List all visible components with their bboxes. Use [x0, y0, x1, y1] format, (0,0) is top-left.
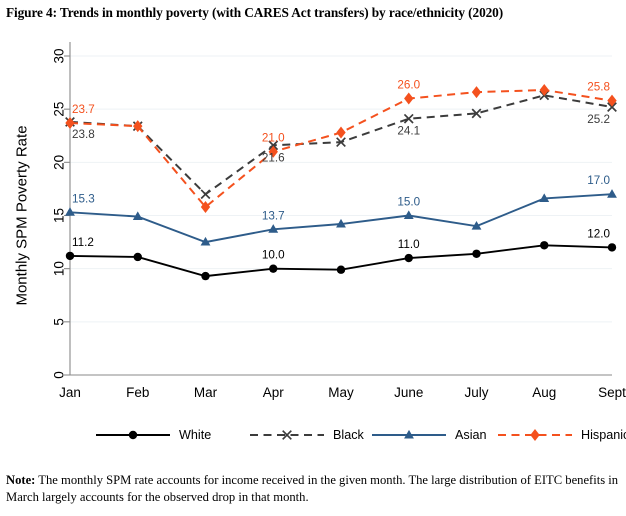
x-tick-label-mar: Mar: [194, 385, 218, 400]
point-label-asian-apr: 13.7: [262, 209, 285, 222]
note-label: Note:: [6, 473, 35, 487]
series-hispanic: [65, 84, 616, 213]
y-tick-label-20: 20: [52, 155, 67, 170]
series-point-white-may: [337, 266, 345, 274]
point-label-black-sept: 25.2: [587, 113, 610, 126]
series-point-black-mar: [201, 190, 210, 199]
series-point-white-july: [472, 250, 480, 258]
legend-item-white[interactable]: White: [96, 428, 211, 442]
point-label-hispanic-apr: 21.0: [262, 132, 285, 145]
y-tick-label-30: 30: [52, 48, 67, 63]
series-point-white-feb: [134, 253, 142, 261]
legend-marker-white: [129, 431, 137, 439]
point-label-black-jan: 23.8: [72, 128, 95, 141]
poverty-trend-line-chart: Monthly SPM Poverty Rate 051015202530 Ja…: [0, 30, 626, 465]
series-point-hispanic-july: [472, 86, 481, 98]
point-label-white-jan: 11.2: [72, 236, 94, 249]
series-point-hispanic-aug: [540, 84, 549, 96]
y-tick-label-10: 10: [52, 261, 67, 276]
point-label-white-apr: 10.0: [262, 249, 285, 262]
chart-figure: Monthly SPM Poverty Rate 051015202530 Ja…: [0, 30, 626, 465]
gridlines: [70, 56, 612, 322]
note-text-line1: The monthly SPM rate accounts for income…: [35, 473, 517, 487]
y-axis-label: Monthly SPM Poverty Rate: [14, 125, 31, 305]
series-point-asian-jan: [65, 207, 75, 216]
point-label-asian-jan: 15.3: [72, 192, 95, 205]
legend-item-asian[interactable]: Asian: [372, 428, 487, 442]
y-tick-labels: 051015202530: [52, 48, 67, 378]
page-title: Figure 4: Trends in monthly poverty (wit…: [6, 5, 620, 21]
series-point-hispanic-may: [336, 127, 345, 139]
series-line-black: [70, 95, 612, 194]
x-tick-label-aug: Aug: [532, 385, 556, 400]
legend-item-black[interactable]: Black: [250, 428, 364, 442]
series-line-asian: [70, 194, 612, 242]
series-point-asian-june: [404, 210, 414, 219]
series-point-white-mar: [201, 272, 209, 280]
series-white: [66, 241, 616, 280]
legend-item-hispanic[interactable]: Hispanic: [498, 428, 626, 442]
legend-label-asian: Asian: [455, 428, 487, 442]
series-point-asian-sept: [607, 189, 617, 198]
series-point-hispanic-june: [404, 93, 413, 105]
point-label-hispanic-jan: 23.7: [72, 103, 95, 116]
series-point-white-aug: [540, 241, 548, 249]
chart-legend[interactable]: WhiteBlackAsianHispanic: [96, 428, 626, 442]
series-point-white-sept: [608, 243, 616, 251]
y-tick-label-25: 25: [52, 102, 67, 117]
x-tick-label-sept: Sept: [598, 385, 626, 400]
point-label-black-apr: 21.6: [262, 151, 285, 164]
y-tick-label-15: 15: [52, 208, 67, 223]
legend-label-black: Black: [333, 428, 364, 442]
figure-note: Note: The monthly SPM rate accounts for …: [6, 472, 620, 505]
point-label-asian-june: 15.0: [397, 196, 420, 209]
legend-label-white: White: [179, 428, 211, 442]
data-series: [65, 84, 617, 280]
x-tick-label-july: July: [464, 385, 488, 400]
series-point-white-jan: [66, 252, 74, 260]
legend-marker-hispanic: [530, 429, 539, 441]
point-label-asian-sept: 17.0: [587, 174, 610, 187]
series-asian: [65, 189, 617, 245]
axes: [64, 42, 612, 375]
y-tick-label-0: 0: [52, 371, 67, 379]
point-label-hispanic-sept: 25.8: [587, 81, 610, 94]
data-point-labels: 11.210.011.012.023.821.624.125.215.313.7…: [72, 79, 610, 262]
point-label-hispanic-june: 26.0: [397, 79, 420, 92]
legend-label-hispanic: Hispanic: [581, 428, 626, 442]
x-tick-labels: JanFebMarAprMayJuneJulyAugSept: [59, 385, 626, 400]
series-black: [66, 91, 617, 198]
series-point-white-apr: [269, 264, 277, 272]
y-axis-title: Monthly SPM Poverty Rate: [14, 125, 31, 305]
y-tick-label-5: 5: [52, 318, 67, 326]
point-label-white-june: 11.0: [398, 238, 420, 251]
series-point-white-june: [405, 254, 413, 262]
x-tick-label-feb: Feb: [126, 385, 149, 400]
x-tick-label-may: May: [328, 385, 354, 400]
axis-lines: [70, 42, 612, 375]
series-line-hispanic: [70, 90, 612, 207]
point-label-white-sept: 12.0: [587, 227, 610, 240]
x-tick-label-jan: Jan: [59, 385, 81, 400]
point-label-black-june: 24.1: [397, 125, 420, 138]
x-tick-label-june: June: [394, 385, 423, 400]
x-tick-label-apr: Apr: [263, 385, 285, 400]
